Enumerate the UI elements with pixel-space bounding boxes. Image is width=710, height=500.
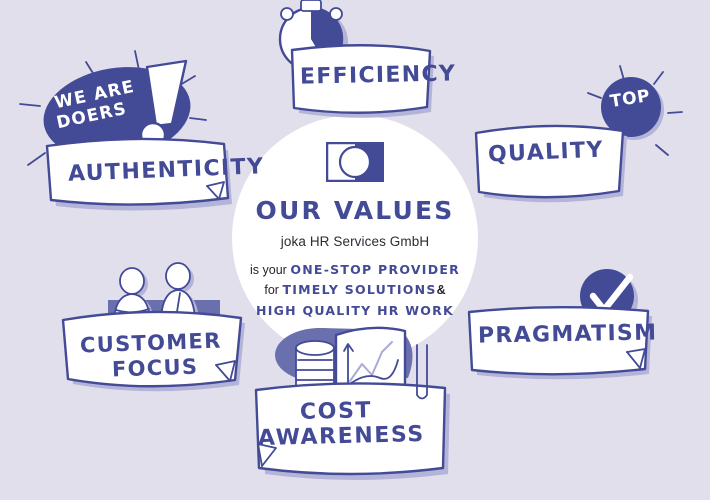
- top-badge: [601, 77, 661, 137]
- authenticity-banner: [47, 139, 228, 205]
- pragmatism-banner: [469, 307, 648, 374]
- artwork-layer: .ink{fill:none;stroke:#434a96;stroke-wid…: [0, 0, 710, 500]
- quality-banner: [476, 126, 623, 197]
- customer-focus-banner: [63, 312, 241, 386]
- value-group-quality: [476, 66, 682, 202]
- efficiency-banner: [292, 45, 430, 113]
- center-circle-backdrop: [232, 115, 478, 361]
- value-group-customer-focus: [63, 263, 245, 391]
- infographic-canvas: .ink{fill:none;stroke:#434a96;stroke-wid…: [0, 0, 710, 500]
- value-group-cost-awareness: [256, 328, 450, 480]
- value-group-pragmatism: [469, 269, 652, 379]
- cost-awareness-banner: [256, 383, 445, 474]
- value-group-efficiency: [280, 0, 434, 118]
- value-group-authenticity: [20, 51, 232, 211]
